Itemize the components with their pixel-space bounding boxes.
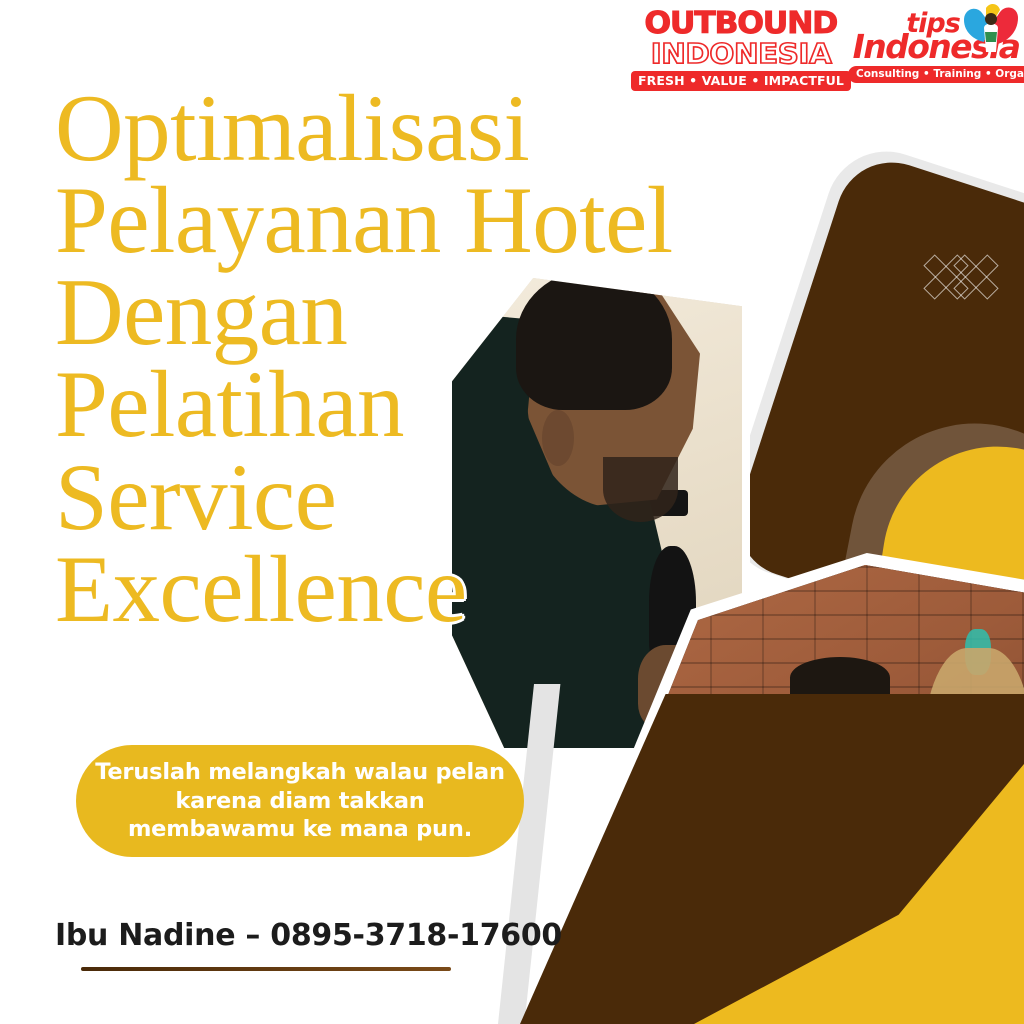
page-title: Optimalisasi Pelayanan Hotel Dengan Pela… — [55, 82, 835, 635]
quote-text: Teruslah melangkah walau pelan karena di… — [76, 758, 524, 844]
tips-indonesia-logo[interactable]: tips Indonesia Consulting • Training • O… — [848, 4, 1024, 83]
title-line: Optimalisasi — [55, 82, 835, 174]
title-line: Service — [55, 451, 835, 543]
tips-indonesia-mark-icon — [960, 2, 1022, 58]
man-in-brown-jacket-hair — [790, 657, 890, 698]
title-line: Pelayanan Hotel — [55, 174, 835, 266]
title-line: Dengan — [55, 266, 835, 358]
outbound-logo-line2: INDONESIA — [651, 40, 832, 67]
outbound-indonesia-logo[interactable]: OUTBOUND INDONESIA FRESH • VALUE • IMPAC… — [648, 4, 834, 91]
poster-canvas: OUTBOUND INDONESIA FRESH • VALUE • IMPAC… — [0, 0, 1024, 1024]
outbound-logo-line1: OUTBOUND — [645, 10, 838, 39]
x-decor-icon — [952, 253, 1000, 301]
title-line: Pelatihan — [55, 358, 835, 450]
contact-underline — [81, 967, 451, 971]
title-line: Excellence — [55, 543, 835, 635]
contact-name-phone[interactable]: Ibu Nadine – 0895-3718-17600 — [55, 918, 562, 953]
tips-logo-tagline: Consulting • Training • Organizer — [848, 66, 1024, 83]
quote-pill: Teruslah melangkah walau pelan karena di… — [76, 745, 524, 857]
contact-block: Ibu Nadine – 0895-3718-17600 — [55, 918, 562, 971]
